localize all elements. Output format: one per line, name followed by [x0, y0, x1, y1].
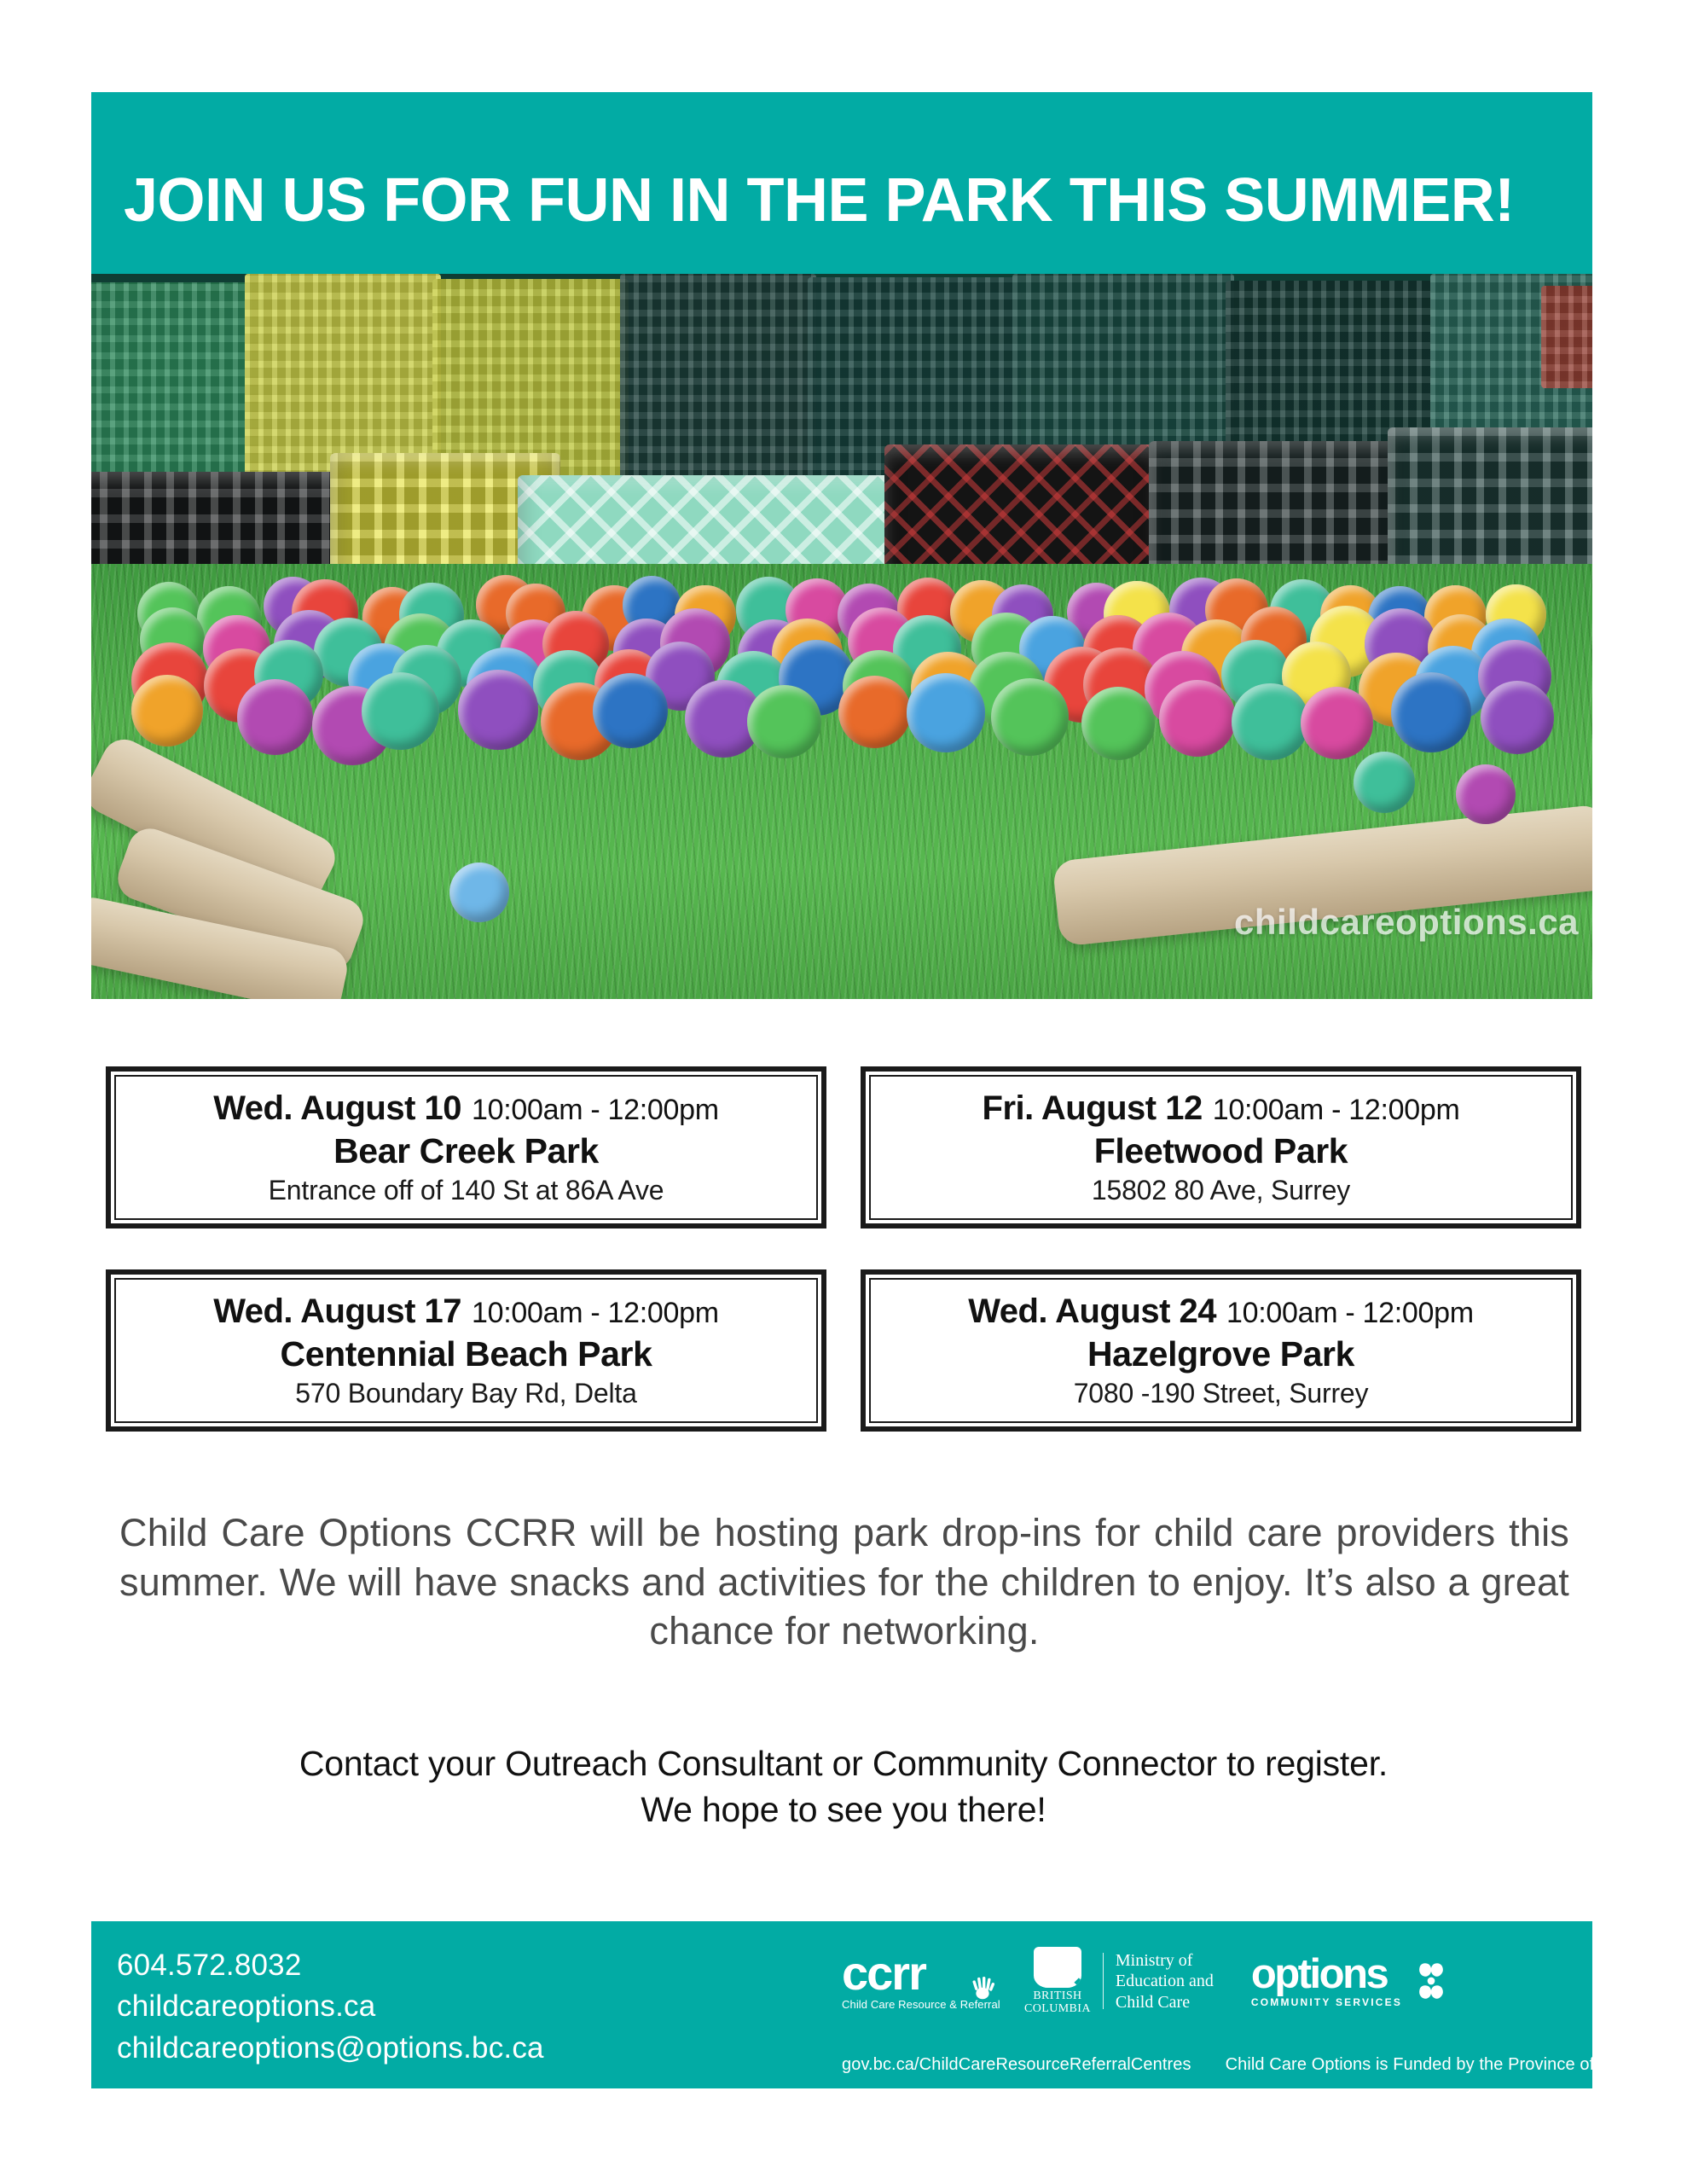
footer-legal-row: gov.bc.ca/ChildCareResourceReferralCentr… [842, 2055, 1623, 2075]
plastic-ball [1159, 680, 1236, 757]
event-park-name: Fleetwood Park [1094, 1131, 1348, 1171]
event-datetime: Fri. August 1210:00am - 12:00pm [983, 1089, 1460, 1128]
event-box: Wed. August 1710:00am - 12:00pm Centenni… [106, 1269, 826, 1432]
plastic-ball [1232, 683, 1308, 760]
flyer-page: JOIN US FOR FUN IN THE PARK THIS SUMMER!… [0, 0, 1687, 2184]
plastic-ball [991, 678, 1069, 756]
event-datetime: Wed. August 2410:00am - 12:00pm [968, 1292, 1474, 1331]
event-time: 10:00am - 12:00pm [472, 1297, 719, 1329]
plastic-ball [747, 685, 821, 759]
plastic-ball [838, 676, 911, 748]
crate-back [620, 274, 816, 487]
plastic-ball [131, 675, 203, 746]
contact-line-hope: We hope to see you there! [0, 1786, 1687, 1833]
plastic-ball [237, 679, 313, 755]
crate-back [91, 282, 262, 479]
photo-watermark: childcareoptions.ca [1234, 902, 1579, 943]
contact-instructions: Contact your Outreach Consultant or Comm… [0, 1740, 1687, 1833]
footer-website[interactable]: childcareoptions.ca [117, 1986, 544, 2027]
event-address: Entrance off of 140 St at 86A Ave [269, 1175, 664, 1206]
ministry-line-1: Ministry of [1116, 1950, 1214, 1971]
bc-province-line-2: COLUMBIA [1024, 2002, 1091, 2015]
footer-phone[interactable]: 604.572.8032 [117, 1945, 544, 1986]
ministry-line-3: Child Care [1116, 1992, 1214, 2013]
event-date: Wed. August 17 [213, 1292, 461, 1330]
logo-divider [1103, 1953, 1104, 2009]
event-box: Wed. August 2410:00am - 12:00pm Hazelgro… [861, 1269, 1581, 1432]
event-address: 7080 -190 Street, Surrey [1074, 1378, 1369, 1409]
event-date: Wed. August 24 [968, 1292, 1216, 1330]
plastic-ball [1301, 687, 1373, 759]
plastic-ball [1354, 752, 1415, 813]
page-title: JOIN US FOR FUN IN THE PARK THIS SUMMER! [91, 170, 1515, 274]
footer-banner: 604.572.8032 childcareoptions.ca childca… [91, 1921, 1592, 2088]
event-grid: Wed. August 1010:00am - 12:00pm Bear Cre… [106, 1066, 1581, 1432]
event-time: 10:00am - 12:00pm [1213, 1094, 1460, 1126]
options-flower-icon [1409, 1959, 1453, 2003]
ccrr-tagline: Child Care Resource & Referral [842, 1998, 987, 2011]
options-wordmark: options [1251, 1955, 1402, 1995]
ccrr-wordmark: ccrr [842, 1952, 987, 1995]
plastic-ball [449, 863, 509, 922]
partner-logos: ccrr Child Care Resource & Referral [842, 1947, 1453, 2016]
body-paragraph: Child Care Options CCRR will be hosting … [119, 1508, 1569, 1656]
event-box: Fri. August 1210:00am - 12:00pm Fleetwoo… [861, 1066, 1581, 1228]
contact-line-register: Contact your Outreach Consultant or Comm… [0, 1740, 1687, 1786]
event-park-name: Hazelgrove Park [1087, 1334, 1354, 1374]
header-banner: JOIN US FOR FUN IN THE PARK THIS SUMMER! [91, 92, 1592, 274]
event-park-name: Bear Creek Park [333, 1131, 599, 1171]
bc-sunburst-icon [1034, 1947, 1081, 1988]
bc-ministry-name: Ministry of Education and Child Care [1116, 1950, 1214, 2013]
ministry-line-2: Education and [1116, 1971, 1214, 1991]
handprint-icon [968, 1972, 997, 2001]
plastic-ball [907, 673, 986, 752]
plastic-ball [458, 670, 537, 749]
options-logo: options COMMUNITY SERVICES [1251, 1955, 1453, 2008]
ccrr-logo: ccrr Child Care Resource & Referral [842, 1952, 987, 2011]
event-datetime: Wed. August 1710:00am - 12:00pm [213, 1292, 719, 1331]
hero-photo: childcareoptions.ca [91, 274, 1592, 999]
footer-legal-url[interactable]: gov.bc.ca/ChildCareResourceReferralCentr… [842, 2055, 1191, 2075]
plastic-ball [1456, 764, 1516, 824]
event-date: Wed. August 10 [213, 1089, 461, 1127]
event-box: Wed. August 1010:00am - 12:00pm Bear Cre… [106, 1066, 826, 1228]
options-tagline: COMMUNITY SERVICES [1251, 1996, 1402, 2008]
event-date: Fri. August 12 [983, 1089, 1203, 1127]
crate-back [1541, 286, 1592, 388]
bc-province-line-1: BRITISH [1024, 1989, 1091, 2002]
plastic-ball [1481, 681, 1555, 755]
plastic-ball [1391, 672, 1471, 752]
event-address: 570 Boundary Bay Rd, Delta [295, 1378, 636, 1409]
event-address: 15802 80 Ave, Surrey [1092, 1175, 1350, 1206]
footer-email[interactable]: childcareoptions@options.bc.ca [117, 2028, 544, 2069]
bc-government-logo: BRITISH COLUMBIA Ministry of Education a… [1024, 1947, 1214, 2016]
event-park-name: Centennial Beach Park [281, 1334, 652, 1374]
event-time: 10:00am - 12:00pm [1226, 1297, 1474, 1329]
bc-crest: BRITISH COLUMBIA [1024, 1947, 1091, 2016]
footer-contact-block: 604.572.8032 childcareoptions.ca childca… [117, 1945, 544, 2069]
footer-funding-note: Child Care Options is Funded by the Prov… [1226, 2055, 1623, 2075]
plastic-ball [362, 672, 439, 750]
event-datetime: Wed. August 1010:00am - 12:00pm [213, 1089, 719, 1128]
event-time: 10:00am - 12:00pm [472, 1094, 719, 1126]
plastic-ball [1081, 687, 1155, 760]
